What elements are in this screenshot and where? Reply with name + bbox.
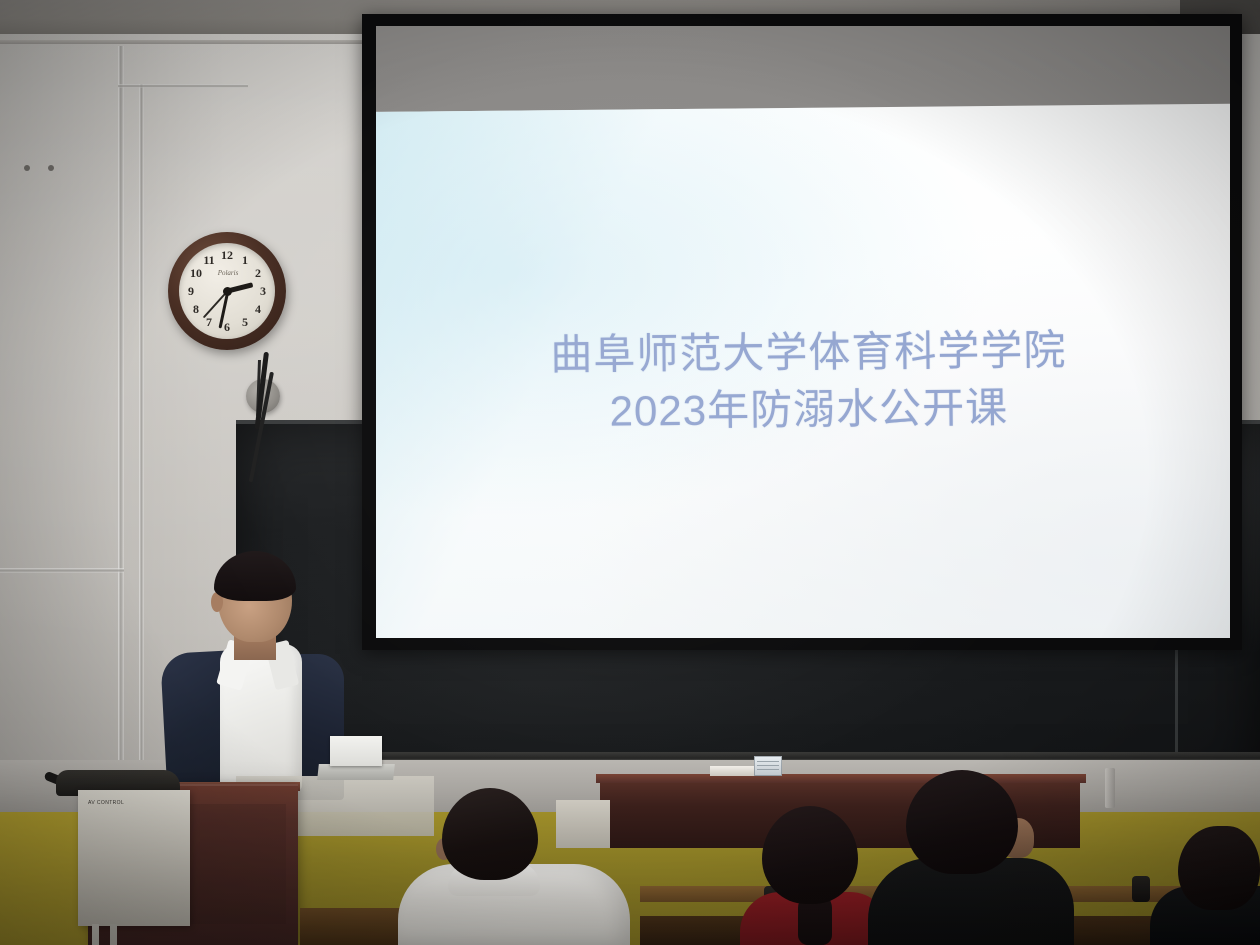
desk-device <box>754 756 782 776</box>
clock-number-9: 9 <box>182 284 200 298</box>
wall-fixture-icon <box>1105 768 1115 808</box>
device-vent-line <box>757 761 779 762</box>
av-cabinet-label: AV CONTROL <box>88 800 136 808</box>
clock-face: 12 1 2 3 4 5 6 7 8 9 10 11 Polaris <box>179 243 275 339</box>
cabinet-leg <box>110 924 117 945</box>
clock-number-10: 10 <box>187 266 205 280</box>
av-control-cabinet[interactable] <box>78 790 190 926</box>
laptop-base <box>317 764 395 780</box>
student-far-right-head <box>1178 826 1260 910</box>
slide-title-block: 曲阜师范大学体育科学学院 2023年防溺水公开课 <box>376 320 1230 443</box>
wall-clock: 12 1 2 3 4 5 6 7 8 9 10 11 Polaris <box>168 232 286 350</box>
front-desk-top <box>596 774 1086 783</box>
clock-number-2: 2 <box>249 266 267 280</box>
laptop-lid[interactable] <box>330 736 382 766</box>
clock-number-11: 11 <box>200 253 218 267</box>
clock-number-1: 1 <box>236 253 254 267</box>
student-ponytail-head <box>762 806 858 904</box>
wall-trim-vertical-1 <box>118 46 124 760</box>
slide-title-line-1: 曲阜师范大学体育科学学院 <box>376 320 1230 386</box>
side-cabinet <box>556 800 610 848</box>
slide-title-line-2: 2023年防溺水公开课 <box>376 377 1230 443</box>
lecture-hall-photo: 曲阜师范大学体育科学学院 2023年防溺水公开课 12 1 2 3 4 5 6 … <box>0 0 1260 945</box>
clock-number-4: 4 <box>249 302 267 316</box>
wall-trim-horizontal-1 <box>0 568 124 573</box>
clock-number-8: 8 <box>187 302 205 316</box>
presenter-hair <box>214 551 296 601</box>
cabinet-leg <box>92 924 99 945</box>
clock-brand-label: Polaris <box>213 269 243 277</box>
wall-screw-hole-icon <box>24 165 30 171</box>
bench-knob <box>1132 876 1150 902</box>
projected-slide: 曲阜师范大学体育科学学院 2023年防溺水公开课 <box>376 104 1230 638</box>
wall-screw-hole-icon <box>48 165 54 171</box>
projection-screen-surface: 曲阜师范大学体育科学学院 2023年防溺水公开课 <box>376 26 1230 638</box>
student-white-hoodie-head <box>442 788 538 880</box>
clock-number-5: 5 <box>236 315 254 329</box>
clock-center-pin <box>223 287 232 296</box>
device-vent-line <box>757 765 779 766</box>
wall-trim-horizontal-2 <box>118 84 248 88</box>
wall-trim-vertical-2 <box>139 84 144 760</box>
student-dark-jacket-head <box>906 770 1018 874</box>
clock-number-12: 12 <box>218 248 236 262</box>
device-vent-line <box>757 769 779 770</box>
clock-number-3: 3 <box>254 284 272 298</box>
